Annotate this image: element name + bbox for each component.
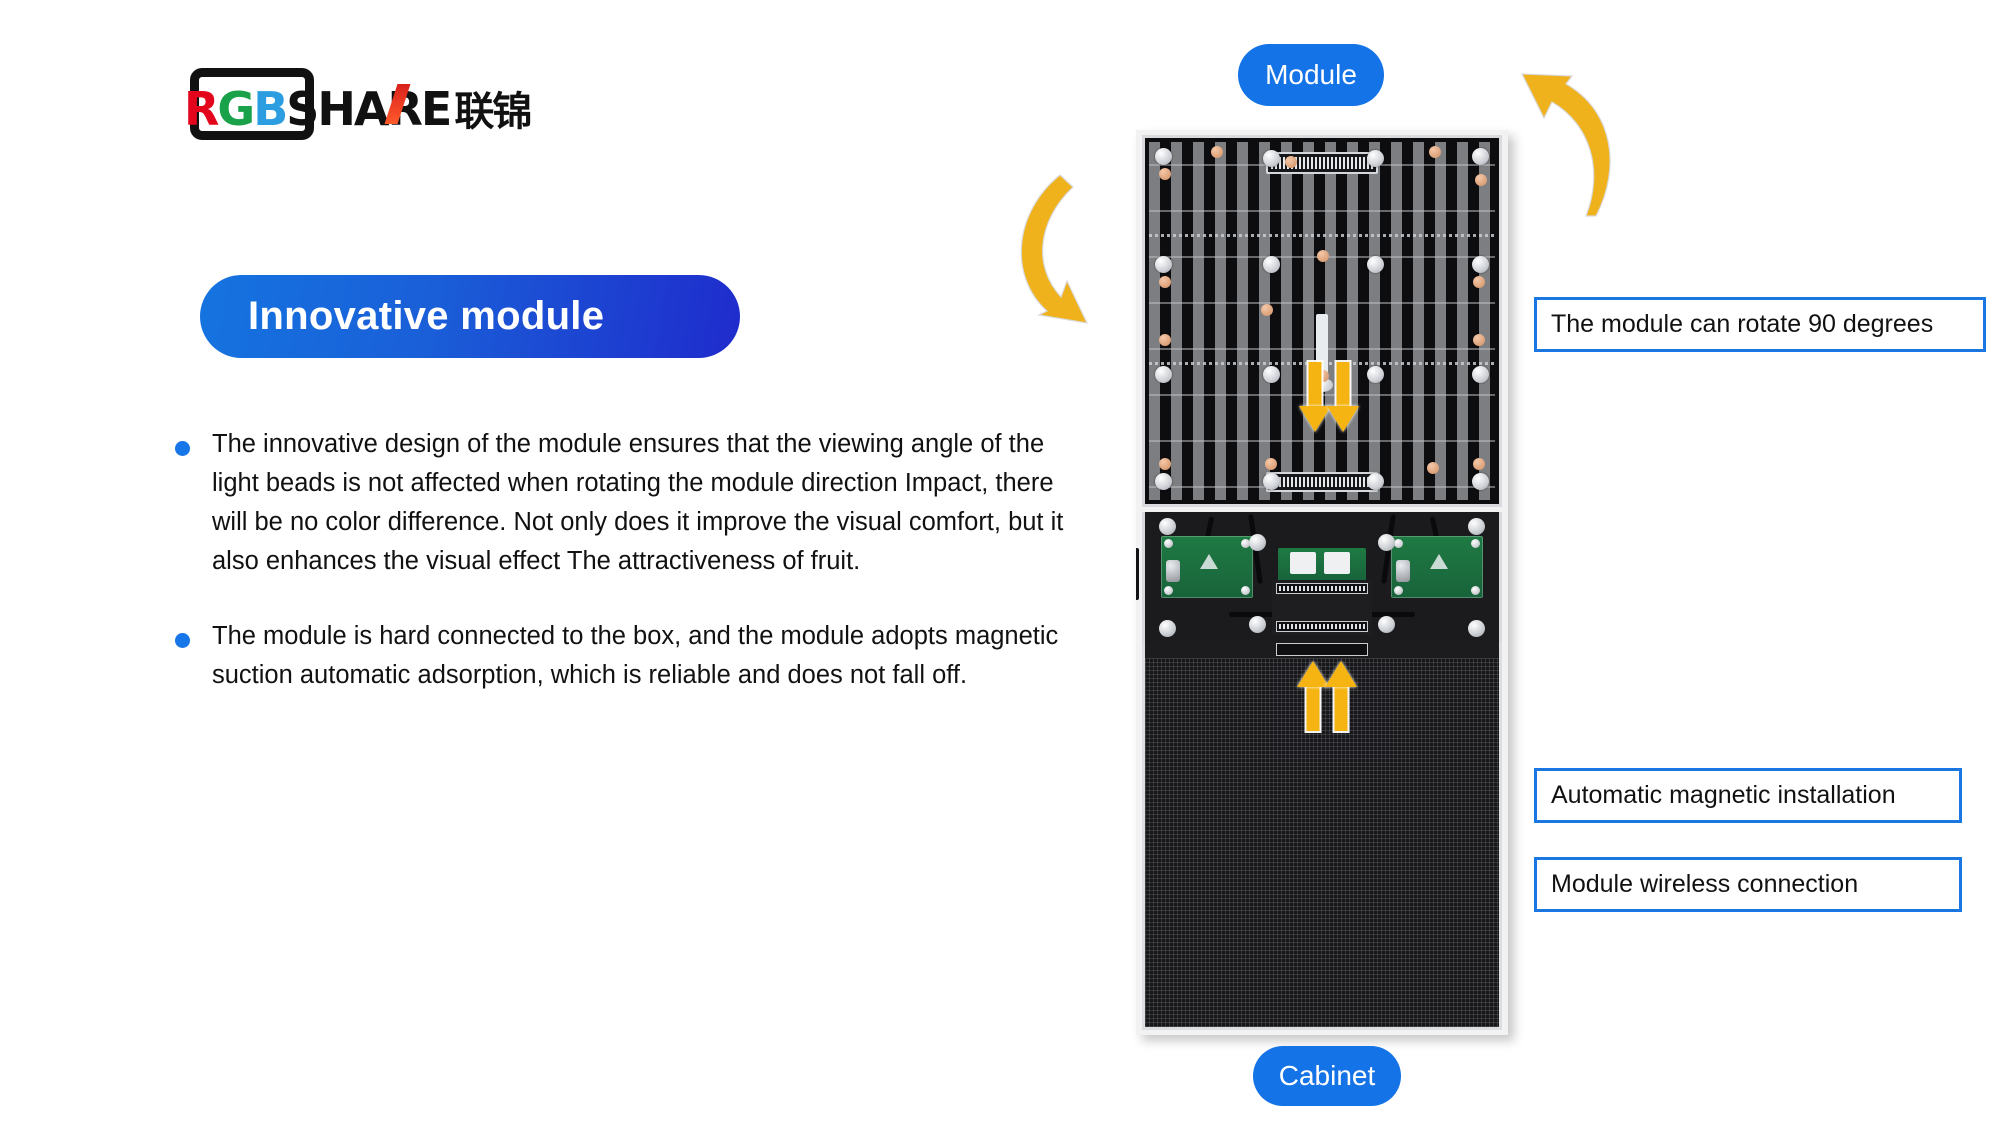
curved-arrow-up-left-icon (1500, 58, 1660, 218)
magnet-icon (1367, 256, 1384, 273)
page-title: Innovative module (200, 275, 740, 358)
connector-pins (1276, 583, 1368, 594)
logo-letter-g: G (217, 82, 253, 136)
standoff-icon (1378, 616, 1395, 633)
logo-text-chinese: 联锦 (454, 89, 530, 135)
arrow-shaft (1337, 362, 1350, 408)
standoff-icon (1468, 518, 1485, 535)
label-pill-cabinet-text: Cabinet (1279, 1060, 1376, 1092)
bullet-dot-icon (175, 633, 190, 648)
logo-letter-b: B (253, 82, 286, 136)
standoff-icon (1378, 534, 1395, 551)
magnet-icon (1472, 473, 1489, 490)
connector-pins (1276, 621, 1368, 632)
copper-pad (1427, 462, 1439, 474)
screw-icon (1471, 539, 1480, 548)
bullet-text: The innovative design of the module ensu… (212, 425, 1065, 581)
callout-rotate: The module can rotate 90 degrees (1534, 297, 1986, 352)
standoff-icon (1159, 518, 1176, 535)
side-bracket (1136, 548, 1139, 600)
magnet-icon (1367, 473, 1384, 490)
screw-icon (1394, 586, 1403, 595)
copper-pad (1159, 276, 1171, 288)
cabinet-chassis (1142, 512, 1502, 642)
standoff-icon (1159, 620, 1176, 637)
rj45-port (1324, 552, 1350, 574)
magnet-icon (1472, 366, 1489, 383)
arrow-shaft (1307, 685, 1320, 731)
screw-icon (1394, 539, 1403, 548)
led-panel-top-rail (1145, 642, 1499, 658)
standoff-icon (1249, 534, 1266, 551)
hub-connector (1272, 580, 1372, 635)
screw-icon (1471, 586, 1480, 595)
magnet-icon (1263, 150, 1280, 167)
copper-pad (1211, 146, 1223, 158)
product-photo-inner (1136, 130, 1508, 1035)
list-item: The innovative design of the module ensu… (175, 425, 1065, 581)
copper-pad (1473, 276, 1485, 288)
copper-pad (1159, 458, 1171, 470)
copper-pad (1317, 250, 1329, 262)
copper-pad (1429, 146, 1441, 158)
standoff-icon (1249, 616, 1266, 633)
arrow-head (1325, 661, 1357, 687)
power-board-left (1161, 536, 1253, 598)
callout-magnetic-text: Automatic magnetic installation (1551, 781, 1896, 810)
logo-wordmark: RGBSHARE联锦 (184, 86, 530, 132)
screw-icon (1164, 586, 1173, 595)
logo-letter-r: R (184, 82, 217, 136)
copper-pad (1475, 174, 1487, 186)
power-board-right (1391, 536, 1483, 598)
curved-arrow-down-right-icon (995, 165, 1155, 325)
magnet-icon (1367, 150, 1384, 167)
module-pcb (1142, 135, 1502, 507)
magnet-icon (1155, 473, 1172, 490)
list-item: The module is hard connected to the box,… (175, 617, 1065, 695)
screw-icon (1164, 539, 1173, 548)
page-title-label: Innovative module (248, 294, 604, 339)
pcb-connector-bottom (1266, 472, 1378, 492)
copper-pad (1261, 304, 1273, 316)
label-pill-module: Module (1238, 44, 1384, 106)
capacitor-icon (1166, 560, 1180, 582)
pcb-trace-line (1149, 234, 1495, 237)
logo-text-sh: SH (286, 82, 354, 136)
callout-wireless: Module wireless connection (1534, 857, 1962, 912)
capacitor-icon (1396, 560, 1410, 582)
arrow-up-icon (1325, 659, 1357, 731)
magnet-icon (1472, 148, 1489, 165)
label-pill-cabinet: Cabinet (1253, 1046, 1401, 1106)
screw-icon (1241, 586, 1250, 595)
magnet-icon (1155, 366, 1172, 383)
bullet-dot-icon (175, 441, 190, 456)
magnet-icon (1263, 256, 1280, 273)
bullet-list: The innovative design of the module ensu… (175, 425, 1065, 731)
label-pill-module-text: Module (1265, 59, 1357, 91)
rj45-port (1290, 552, 1316, 574)
copper-pad (1159, 168, 1171, 180)
copper-pad (1285, 156, 1297, 168)
bullet-text: The module is hard connected to the box,… (212, 617, 1065, 695)
callout-rotate-text: The module can rotate 90 degrees (1551, 310, 1933, 339)
copper-pad (1473, 334, 1485, 346)
product-photo (1136, 130, 1508, 1035)
magnet-icon (1155, 256, 1172, 273)
warning-triangle-icon (1200, 554, 1218, 569)
warning-triangle-icon (1430, 554, 1448, 569)
led-panel-connector (1276, 643, 1368, 656)
magnet-icon (1367, 366, 1384, 383)
copper-pad (1159, 334, 1171, 346)
brand-logo: RGBSHARE联锦 (190, 68, 550, 140)
arrow-shaft (1335, 685, 1348, 731)
arrow-shaft (1309, 362, 1322, 408)
copper-pad (1473, 458, 1485, 470)
arrow-head (1327, 406, 1359, 432)
standoff-icon (1468, 620, 1485, 637)
arrow-down-icon (1327, 362, 1359, 434)
magnet-icon (1263, 366, 1280, 383)
magnet-icon (1472, 256, 1489, 273)
slide-canvas: RGBSHARE联锦 Innovative module The innovat… (0, 0, 2000, 1125)
receiver-card (1278, 548, 1366, 582)
callout-magnetic: Automatic magnetic installation (1534, 768, 1962, 823)
copper-pad (1265, 458, 1277, 470)
magnet-icon (1263, 473, 1280, 490)
led-panel (1142, 642, 1502, 1030)
magnet-icon (1155, 148, 1172, 165)
pcb-connector-top (1266, 152, 1378, 174)
callout-wireless-text: Module wireless connection (1551, 870, 1858, 899)
